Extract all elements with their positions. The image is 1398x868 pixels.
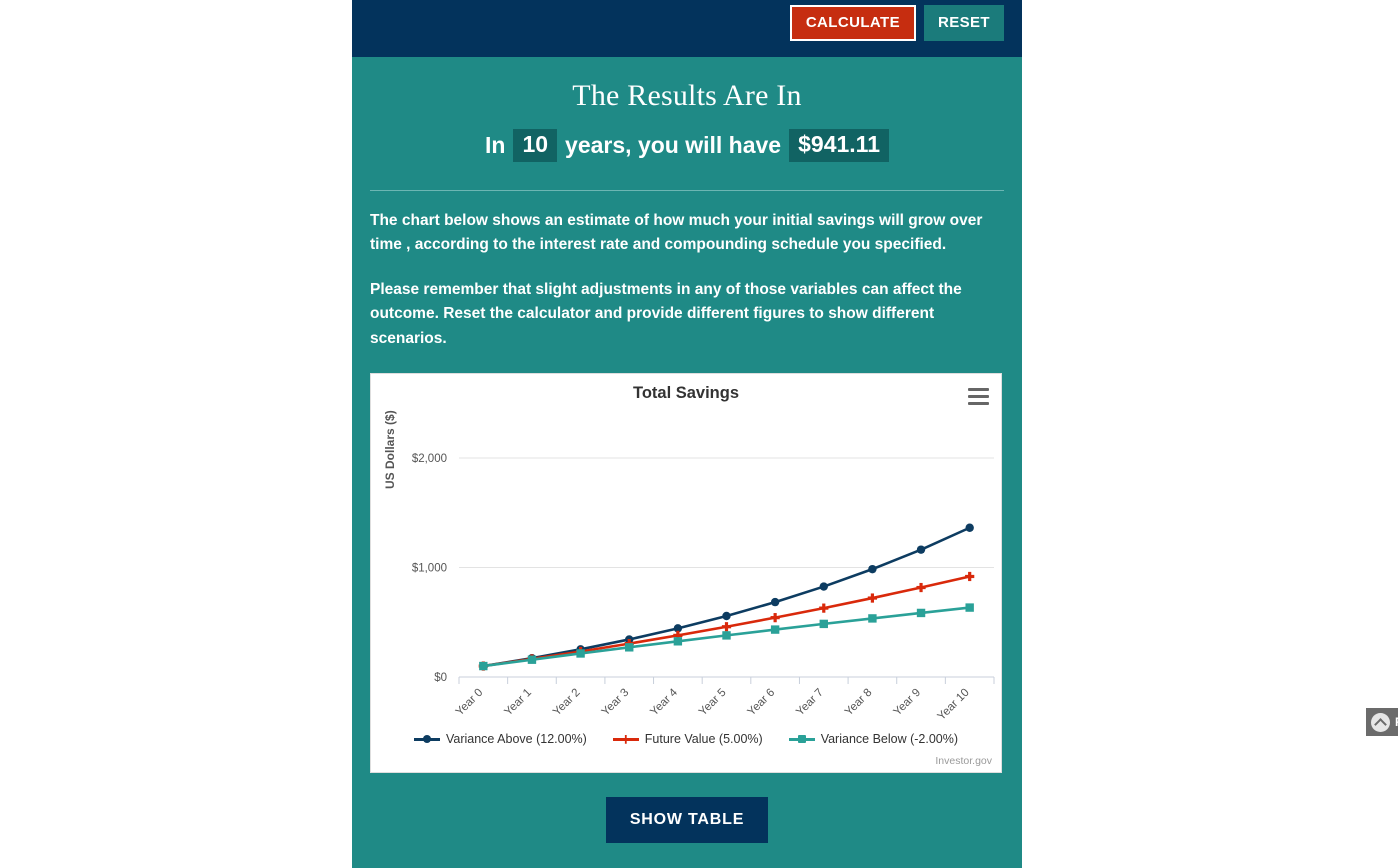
svg-text:Year 3: Year 3 <box>600 687 632 719</box>
legend-swatch-plus-icon <box>613 738 639 741</box>
legend-item-1[interactable]: Future Value (5.00%) <box>613 732 763 746</box>
show-table-wrap: SHOW TABLE <box>352 797 1022 843</box>
chevron-up-circle-icon <box>1371 713 1390 732</box>
svg-text:Year 2: Year 2 <box>551 687 583 719</box>
chart-legend: Variance Above (12.00%)Future Value (5.0… <box>371 732 1001 746</box>
results-description: The chart below shows an estimate of how… <box>352 191 1022 351</box>
svg-text:$0: $0 <box>434 672 447 684</box>
svg-text:Year 10: Year 10 <box>936 687 972 723</box>
show-table-button[interactable]: SHOW TABLE <box>606 797 768 843</box>
svg-text:$1,000: $1,000 <box>412 563 447 575</box>
svg-text:Year 1: Year 1 <box>502 687 534 719</box>
chart-card: Total Savings US Dollars ($) $0$1,000$2,… <box>370 373 1002 773</box>
svg-text:Year 9: Year 9 <box>891 687 923 719</box>
svg-text:$2,000: $2,000 <box>412 453 447 465</box>
svg-text:Year 0: Year 0 <box>454 687 486 719</box>
toolbar-actions: CALCULATE RESET <box>790 5 1004 41</box>
chart-title: Total Savings <box>371 374 1001 403</box>
chart-plot-area: US Dollars ($) $0$1,000$2,000Year 0Year … <box>371 403 1001 733</box>
page-root: CALCULATE RESET The Results Are In In 10… <box>0 0 1398 868</box>
top-toolbar: CALCULATE RESET <box>352 0 1022 57</box>
back-to-top-button[interactable]: R <box>1366 708 1398 736</box>
results-header: The Results Are In In 10 years, you will… <box>352 57 1022 162</box>
svg-text:Year 7: Year 7 <box>794 687 826 719</box>
reset-button[interactable]: RESET <box>924 5 1004 41</box>
results-amount-value: $941.11 <box>789 129 889 162</box>
description-paragraph-1: The chart below shows an estimate of how… <box>370 209 994 258</box>
results-summary: In 10 years, you will have $941.11 <box>352 129 1022 162</box>
results-prefix: In <box>485 132 505 159</box>
chart-y-axis-label: US Dollars ($) <box>383 411 397 490</box>
calculate-button[interactable]: CALCULATE <box>790 5 916 41</box>
svg-text:Year 5: Year 5 <box>697 687 729 719</box>
legend-label: Variance Below (-2.00%) <box>821 732 958 746</box>
svg-text:Year 4: Year 4 <box>648 686 680 718</box>
legend-swatch-circle-icon <box>414 738 440 741</box>
description-paragraph-2: Please remember that slight adjustments … <box>370 278 994 351</box>
calculator-panel: CALCULATE RESET The Results Are In In 10… <box>352 0 1022 868</box>
results-title: The Results Are In <box>352 79 1022 113</box>
legend-label: Variance Above (12.00%) <box>446 732 587 746</box>
svg-text:Year 6: Year 6 <box>746 687 778 719</box>
chart-watermark: Investor.gov <box>935 755 992 767</box>
results-middle-text: years, you will have <box>565 132 781 159</box>
legend-item-2[interactable]: Variance Below (-2.00%) <box>789 732 958 746</box>
legend-label: Future Value (5.00%) <box>645 732 763 746</box>
legend-item-0[interactable]: Variance Above (12.00%) <box>414 732 587 746</box>
svg-text:Year 8: Year 8 <box>843 687 875 719</box>
results-years-value: 10 <box>513 129 557 162</box>
legend-swatch-square-icon <box>789 738 815 741</box>
chart-svg: $0$1,000$2,000Year 0Year 1Year 2Year 3Ye… <box>371 403 1003 733</box>
